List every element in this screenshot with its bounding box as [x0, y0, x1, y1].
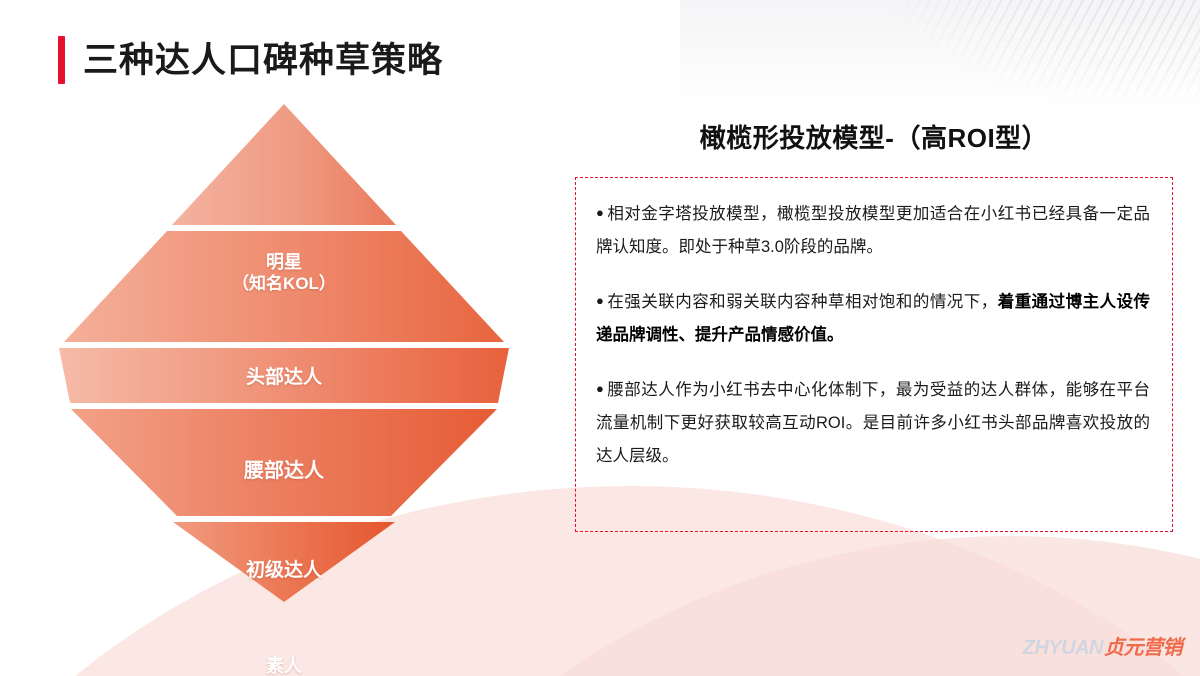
bullet-item-1: ●在强关联内容和弱关联内容种草相对饱和的情况下，着重通过博主人设传递品牌调性、提… [596, 286, 1150, 352]
page-title: 三种达人口碑种草策略 [83, 43, 443, 78]
bullet-marker-icon: ● [596, 381, 604, 396]
bullet-item-2: ●腰部达人作为小红书去中心化体制下，最为受益的达人群体，能够在平台流量机制下更好… [596, 374, 1150, 473]
diamond-svg [55, 104, 513, 602]
influencer-tier-diamond-diagram: 明星 （知名KOL） 头部达人 腰部达人 初级达人 素人 [55, 104, 513, 602]
diamond-band-4 [173, 522, 395, 602]
diamond-band-2 [59, 348, 509, 403]
bullet-item-1-text: 在强关联内容和弱关联内容种草相对饱和的情况下， [607, 293, 997, 311]
diamond-band-3 [71, 409, 497, 516]
bullet-item-0: ●相对金字塔投放模型，橄榄型投放模型更加适合在小红书已经具备一定品牌认知度。即处… [596, 198, 1150, 264]
bullet-marker-icon: ● [596, 205, 604, 220]
brand-logo: ZHYUAN 贞元营销 [1023, 631, 1182, 660]
dashed-info-box: ●相对金字塔投放模型，橄榄型投放模型更加适合在小红书已经具备一定品牌认知度。即处… [575, 177, 1173, 532]
brand-logo-cn: 贞元营销 [1104, 631, 1182, 660]
bullet-item-0-text: 相对金字塔投放模型，橄榄型投放模型更加适合在小红书已经具备一定品牌认知度。即处于… [596, 205, 1150, 256]
diamond-band-0 [172, 104, 396, 225]
brand-logo-latin: ZHYUAN [1023, 637, 1103, 660]
top-gradient-decoration [680, 0, 1200, 110]
bullet-item-2-text: 腰部达人作为小红书去中心化体制下，最为受益的达人群体，能够在平台流量机制下更好获… [596, 381, 1150, 465]
diamond-band-1 [64, 231, 504, 342]
title-accent-bar [58, 36, 65, 84]
diamond-band-label-4: 素人 [55, 656, 513, 676]
slide-header: 三种达人口碑种草策略 [58, 36, 443, 84]
right-content-column: 橄榄形投放模型-（高ROI型） ●相对金字塔投放模型，橄榄型投放模型更加适合在小… [575, 118, 1173, 532]
bullet-marker-icon: ● [596, 293, 604, 308]
panel-subtitle: 橄榄形投放模型-（高ROI型） [575, 118, 1173, 155]
